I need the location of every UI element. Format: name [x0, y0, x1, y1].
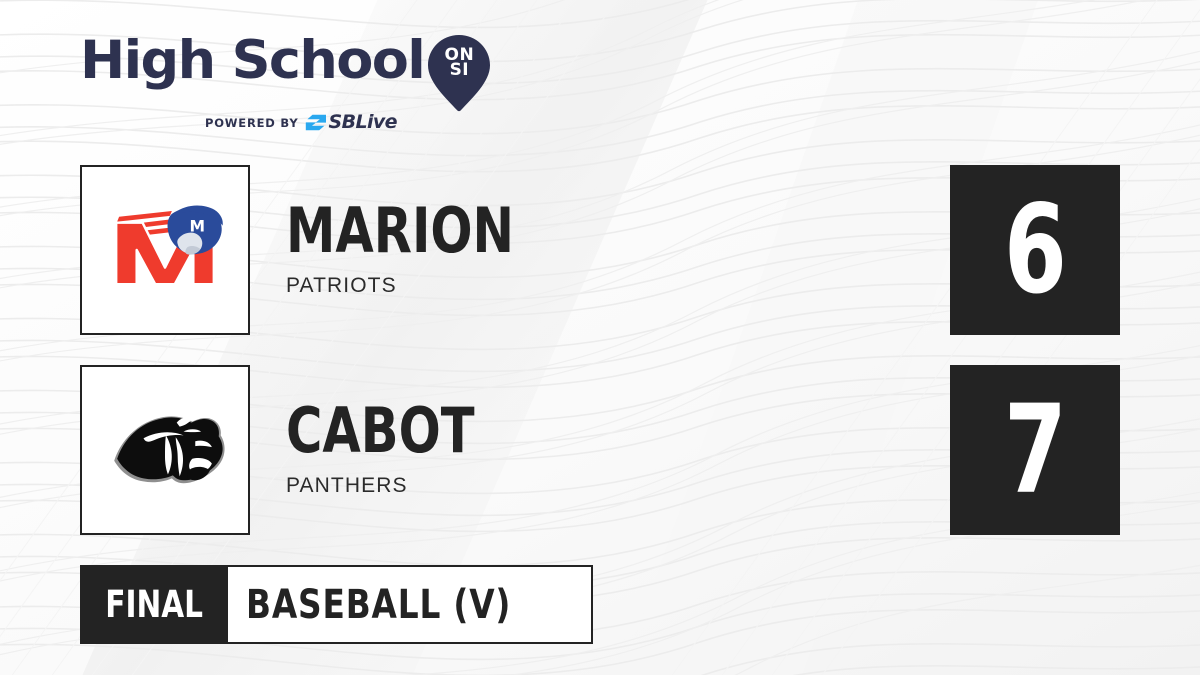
team-name: CABOT [286, 402, 475, 459]
score-value: 6 [1004, 189, 1067, 311]
onsi-map-pin-icon: ON SI [427, 34, 491, 112]
sblive-logo: SBLive [305, 113, 396, 132]
team-row-home: M MARION PATRIOTS 6 [0, 165, 1200, 335]
powered-by-label: POWERED BY [205, 116, 298, 130]
sblive-s-mark [305, 114, 327, 131]
team-row-away: CABOT PANTHERS 7 [0, 365, 1200, 535]
team-mascot: PANTHERS [286, 474, 522, 498]
score-value: 7 [1004, 389, 1067, 511]
team-info-marion: MARION PATRIOTS [286, 165, 571, 335]
sblive-wordmark: SBLive [328, 113, 396, 132]
brand-wordmark: High School [80, 34, 424, 87]
sport-label: BASEBALL (V) [246, 582, 511, 628]
status-badge: FINAL [80, 565, 228, 644]
status-badge-label: FINAL [105, 583, 203, 626]
cabot-panthers-logo-icon [82, 367, 248, 533]
score-box-cabot: 7 [950, 365, 1120, 535]
brand-wordmark-row: High School ON SI [80, 34, 520, 112]
brand-header: High School ON SI POWERED BY SBLive [80, 34, 520, 134]
team-mascot: PATRIOTS [286, 274, 571, 298]
marion-patriots-logo-icon: M [82, 167, 248, 333]
svg-text:M: M [189, 217, 205, 235]
scoreboard-graphic: High School ON SI POWERED BY SBLive [0, 0, 1200, 675]
sport-label-container: BASEBALL (V) [228, 565, 593, 644]
powered-by-row: POWERED BY SBLive [205, 113, 397, 132]
team-info-cabot: CABOT PANTHERS [286, 365, 522, 535]
team-logo-card-marion: M [80, 165, 250, 335]
team-logo-card-cabot [80, 365, 250, 535]
score-box-marion: 6 [950, 165, 1120, 335]
game-status-bar: FINAL BASEBALL (V) [80, 565, 593, 644]
team-name: MARION [286, 202, 514, 259]
